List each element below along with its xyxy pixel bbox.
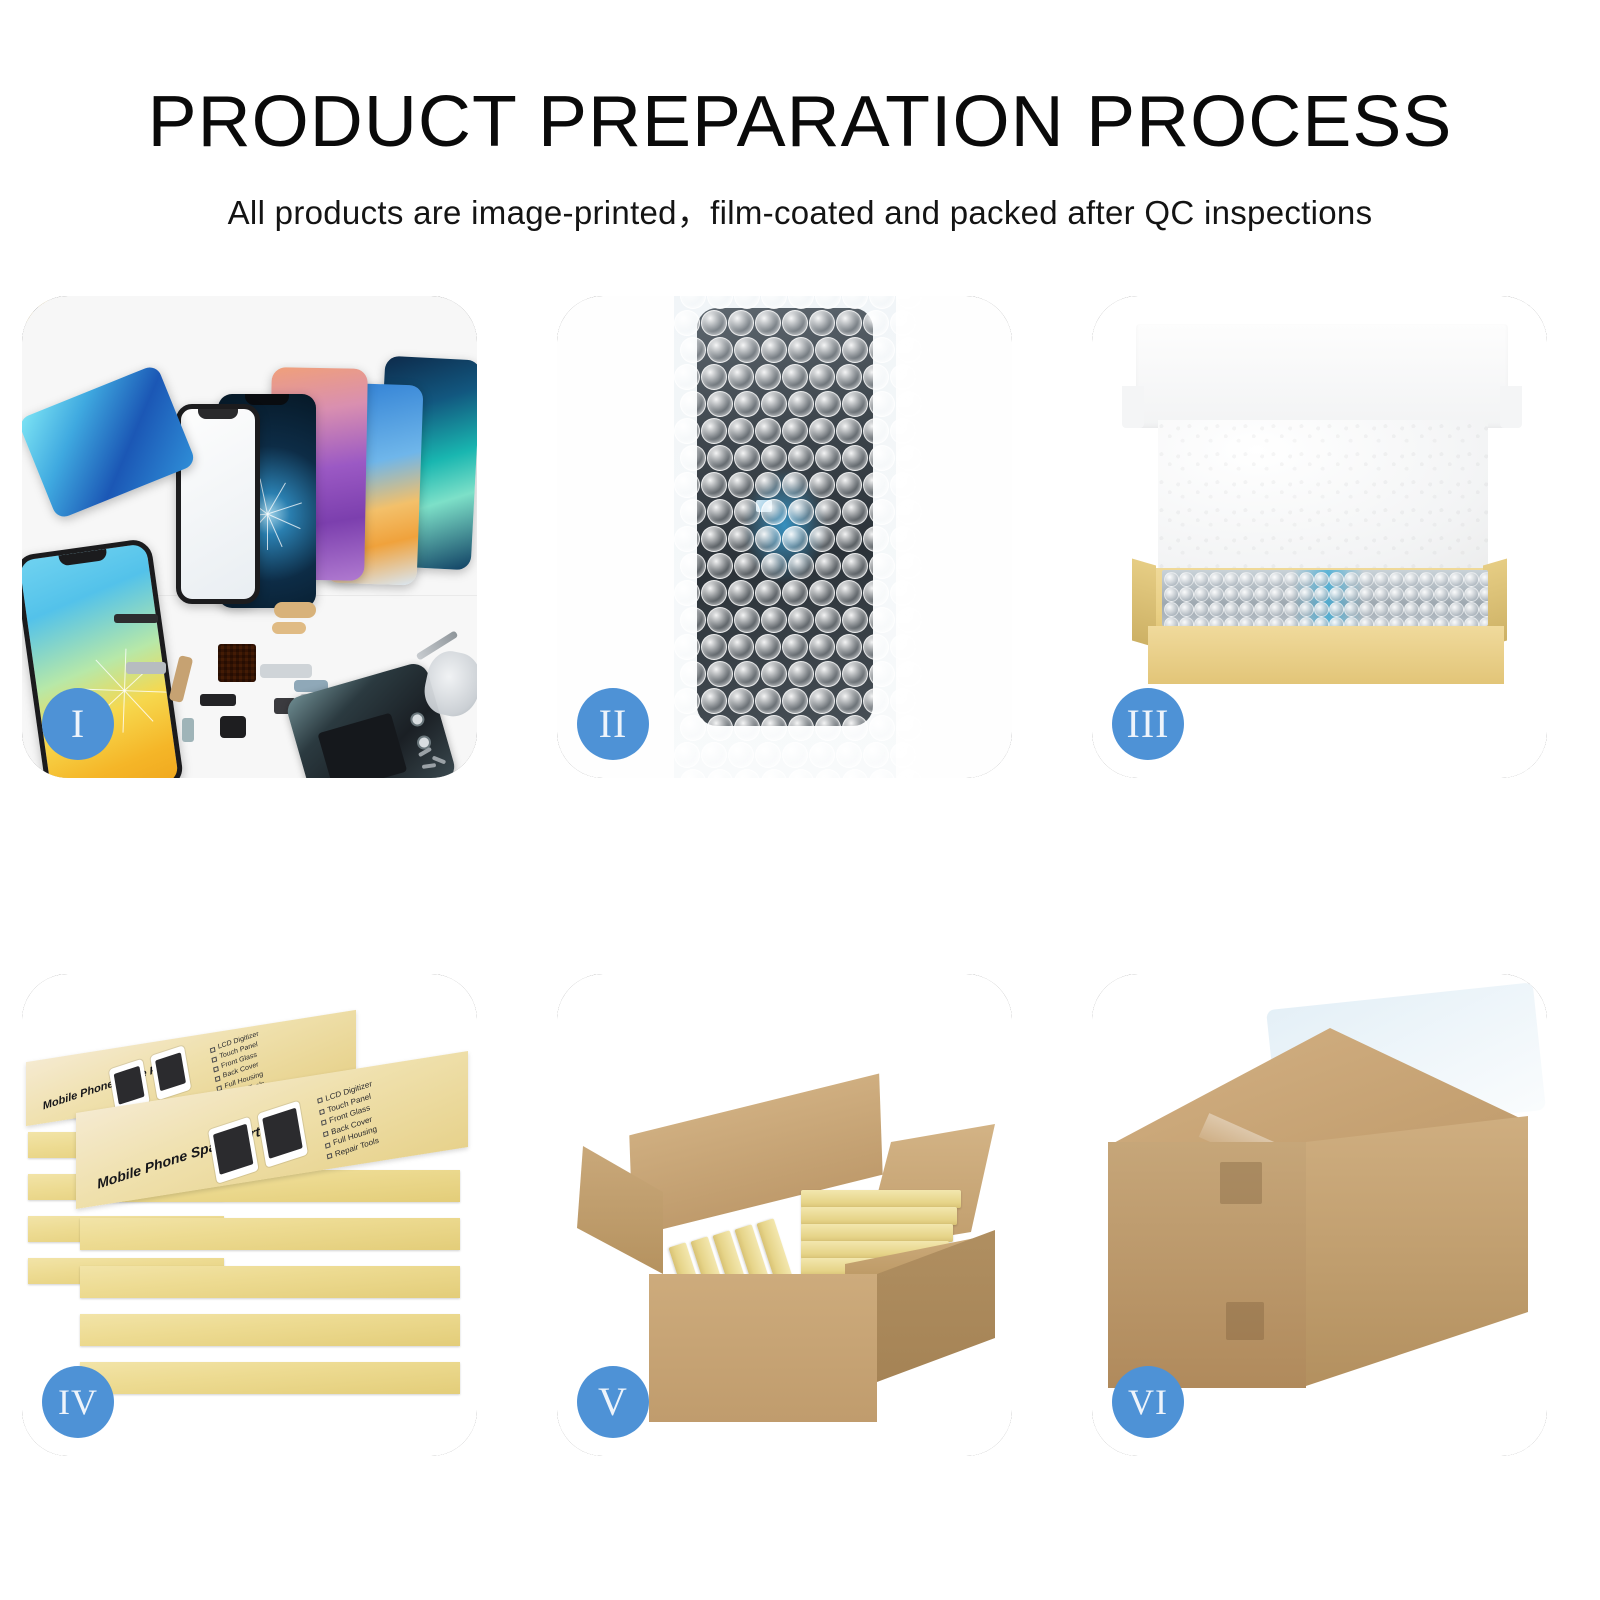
bubble: [701, 688, 727, 714]
front-glass-panel: [176, 404, 260, 604]
bubble: [1299, 587, 1314, 602]
bubble: [674, 580, 700, 606]
step-badge-5: V: [577, 1366, 649, 1438]
bubble: [809, 472, 835, 498]
bubble: [890, 310, 916, 336]
bubble: [1314, 602, 1329, 617]
bubble: [809, 364, 835, 390]
bubble: [1284, 617, 1299, 626]
screwdriver-bits-part: [418, 748, 458, 770]
bubble: [707, 769, 733, 778]
infographic-page: PRODUCT PREPARATION PROCESS All products…: [0, 0, 1600, 1600]
gold-box-front-2: [80, 1218, 460, 1250]
bubble: [815, 391, 841, 417]
step-badge-1: I: [42, 688, 114, 760]
bubble: [734, 445, 760, 471]
bubble: [734, 391, 760, 417]
flex-cable-part-3: [260, 664, 312, 678]
step-badge-4: IV: [42, 1366, 114, 1438]
bubble: [1164, 572, 1179, 587]
bubble: [890, 472, 916, 498]
bubble: [863, 580, 889, 606]
bubble: [1239, 572, 1254, 587]
bubble: [788, 715, 814, 741]
bubble: [1344, 617, 1359, 626]
process-steps-grid: I II: [22, 296, 1578, 1431]
sealed-carton-left-face: [1108, 1142, 1306, 1388]
bubble: [674, 742, 700, 768]
bubble: [809, 310, 835, 336]
step-panel-4: Mobile Phone Spare Parts LCD Digitizer T…: [22, 974, 477, 1456]
bubble: [836, 742, 862, 768]
bubble: [836, 364, 862, 390]
bubble: [1224, 617, 1239, 626]
page-title: PRODUCT PREPARATION PROCESS: [0, 86, 1600, 158]
bubble: [707, 296, 733, 309]
bubble: [1284, 602, 1299, 617]
bubble: [728, 526, 754, 552]
bubble: [842, 553, 868, 579]
bubble: [674, 688, 700, 714]
step-badge-2: II: [577, 688, 649, 760]
bubble: [1239, 602, 1254, 617]
bubble: [788, 769, 814, 778]
page-subtitle: All products are image-printed，film-coat…: [0, 186, 1600, 234]
bubble: [809, 742, 835, 768]
bubble: [1449, 617, 1464, 626]
bubble: [869, 769, 895, 778]
bubble: [1374, 572, 1389, 587]
bubble: [890, 526, 916, 552]
step-badge-6: VI: [1112, 1366, 1184, 1438]
bubble: [1359, 587, 1374, 602]
bubble: [707, 391, 733, 417]
bubble: [1314, 587, 1329, 602]
bubble: [1209, 617, 1224, 626]
bubble: [890, 742, 916, 768]
bubble: [1344, 572, 1359, 587]
bubble: [1224, 587, 1239, 602]
bubble: [728, 742, 754, 768]
bubble: [1164, 587, 1179, 602]
bubble: [1209, 587, 1224, 602]
bubble: [1449, 587, 1464, 602]
bubble: [707, 607, 733, 633]
speaker-grille-part: [114, 614, 158, 623]
bubble: [761, 715, 787, 741]
bubble: [674, 418, 700, 444]
bubble: [761, 391, 787, 417]
bubble: [890, 364, 916, 390]
bubble: [869, 607, 895, 633]
bubble: [1404, 572, 1419, 587]
bubble: [707, 337, 733, 363]
bubble: [680, 499, 706, 525]
bubble: [680, 607, 706, 633]
bubble: [1269, 602, 1284, 617]
bubble: [890, 634, 916, 660]
bubble: [1239, 587, 1254, 602]
bubble: [869, 337, 895, 363]
bubble: [1404, 617, 1419, 626]
camera-module-part: [220, 716, 246, 738]
bubble: [842, 769, 868, 778]
bubble: [701, 634, 727, 660]
bubble: [674, 364, 700, 390]
bubble: [680, 445, 706, 471]
bubble: [761, 661, 787, 687]
gold-box-front-3: [80, 1266, 460, 1298]
bubble: [815, 337, 841, 363]
bubble: [1359, 617, 1374, 626]
bubble: [788, 499, 814, 525]
bubble: [896, 391, 922, 417]
bubble: [755, 580, 781, 606]
bubble: [815, 607, 841, 633]
bubble: [728, 310, 754, 336]
bubble: [815, 553, 841, 579]
bubble: [782, 310, 808, 336]
bubble: [680, 769, 706, 778]
bubble: [863, 688, 889, 714]
bubble: [1179, 572, 1194, 587]
bubble: [1419, 617, 1434, 626]
bubble: [755, 742, 781, 768]
bubble: [1329, 587, 1344, 602]
bubble: [782, 418, 808, 444]
bubble: [1464, 617, 1479, 626]
bubble: [1359, 602, 1374, 617]
bubble: [863, 742, 889, 768]
bubble: [1479, 587, 1488, 602]
bubble: [869, 661, 895, 687]
bubble: [701, 742, 727, 768]
bubble: [788, 661, 814, 687]
bubble: [782, 634, 808, 660]
bubble: [782, 580, 808, 606]
bubble: [842, 391, 868, 417]
bubble: [674, 526, 700, 552]
bubble: [1329, 572, 1344, 587]
bubble: [836, 580, 862, 606]
bubble: [701, 418, 727, 444]
bubble: [788, 391, 814, 417]
bubble: [1479, 602, 1488, 617]
bubble: [788, 607, 814, 633]
bubble: [1389, 602, 1404, 617]
step-panel-2: II: [557, 296, 1012, 778]
bubble: [869, 445, 895, 471]
bubble: [809, 688, 835, 714]
bubble: [1419, 602, 1434, 617]
bubble: [1464, 587, 1479, 602]
bubble: [1449, 602, 1464, 617]
bubble: [701, 526, 727, 552]
bubble: [890, 580, 916, 606]
bubble: [734, 337, 760, 363]
bubble: [869, 296, 895, 309]
step-panel-6: VI: [1092, 974, 1547, 1456]
bubble: [1434, 587, 1449, 602]
bubble: [1194, 602, 1209, 617]
bubble: [707, 715, 733, 741]
bubble: [1284, 587, 1299, 602]
bubble: [734, 607, 760, 633]
bubble: [728, 418, 754, 444]
bubble: [1179, 587, 1194, 602]
bubble: [1179, 602, 1194, 617]
step-panel-1: I: [22, 296, 477, 778]
bubble: [734, 296, 760, 309]
bubble: [1374, 617, 1389, 626]
ic-chip-part: [218, 644, 256, 682]
bubble: [815, 769, 841, 778]
bubble: [1194, 587, 1209, 602]
bubble: [755, 472, 781, 498]
bubble: [896, 553, 922, 579]
bubble: [1209, 572, 1224, 587]
bubble: [836, 526, 862, 552]
bubble: [1224, 602, 1239, 617]
bubble: [1389, 572, 1404, 587]
bubble: [815, 715, 841, 741]
bubble: [1164, 602, 1179, 617]
bubble: [863, 310, 889, 336]
bubble: [842, 661, 868, 687]
bubble: [869, 553, 895, 579]
bubble: [1404, 602, 1419, 617]
bubble: [728, 472, 754, 498]
tape-patch-lower: [1226, 1302, 1264, 1340]
bubble: [701, 364, 727, 390]
bubble: [680, 661, 706, 687]
box-product-photos-front: [208, 1101, 308, 1184]
bubble: [815, 445, 841, 471]
bubble: [761, 337, 787, 363]
bubble: [680, 337, 706, 363]
bubble: [836, 310, 862, 336]
bubble: [1464, 572, 1479, 587]
bubble: [734, 769, 760, 778]
bubble: [761, 769, 787, 778]
bubble: [1194, 572, 1209, 587]
mailer-box-lid: [1136, 324, 1508, 428]
mailer-box-front: [1148, 626, 1504, 684]
bubble: [809, 526, 835, 552]
bubble: [761, 553, 787, 579]
step-badge-3: III: [1112, 688, 1184, 760]
bubble: [1374, 587, 1389, 602]
bubble: [782, 364, 808, 390]
bubble: [755, 688, 781, 714]
bubble: [755, 526, 781, 552]
bubble: [890, 688, 916, 714]
bubble: [1239, 617, 1254, 626]
bubble: [1284, 572, 1299, 587]
bubble: [782, 688, 808, 714]
bubble: [1419, 587, 1434, 602]
bubble: [674, 310, 700, 336]
bubble: [680, 715, 706, 741]
bubble: [1179, 617, 1194, 626]
bubble: [1314, 572, 1329, 587]
bubble: [815, 661, 841, 687]
bubble: [755, 634, 781, 660]
gold-box-front-4: [80, 1314, 460, 1346]
bubble: [1269, 617, 1284, 626]
bubble: [782, 526, 808, 552]
bubble: [728, 688, 754, 714]
bubble: [809, 634, 835, 660]
bubble: [788, 296, 814, 309]
bubble: [1299, 602, 1314, 617]
bubble: [815, 296, 841, 309]
bubble: [788, 337, 814, 363]
bubble: [1254, 587, 1269, 602]
bubble: [896, 715, 922, 741]
bubble: [1374, 602, 1389, 617]
flex-cable-part-2: [272, 622, 306, 634]
carton-front-face: [649, 1274, 877, 1422]
bubble: [863, 634, 889, 660]
bubble: [809, 418, 835, 444]
bubble: [755, 364, 781, 390]
bubble: [701, 310, 727, 336]
bubble: [842, 607, 868, 633]
bubble: [1449, 572, 1464, 587]
bubble: [680, 296, 706, 309]
bubble: [842, 445, 868, 471]
bubble: [815, 499, 841, 525]
bubble: [836, 472, 862, 498]
bubble: [755, 418, 781, 444]
bubble: [761, 296, 787, 309]
bubble: [869, 715, 895, 741]
bubble-wrap-sleeve: [674, 296, 896, 778]
header: PRODUCT PREPARATION PROCESS All products…: [0, 0, 1600, 234]
gold-box-in-carton: [801, 1207, 957, 1225]
bubble: [896, 607, 922, 633]
bubble: [728, 364, 754, 390]
bubble: [1299, 617, 1314, 626]
bubble: [1164, 617, 1179, 626]
bubble: [1344, 602, 1359, 617]
bubble: [782, 472, 808, 498]
bubble: [869, 499, 895, 525]
bubble: [728, 634, 754, 660]
bubble: [734, 499, 760, 525]
bubble: [755, 310, 781, 336]
bubble: [1224, 572, 1239, 587]
bubble: [869, 391, 895, 417]
bubble: [1269, 587, 1284, 602]
bubble: [1344, 587, 1359, 602]
bubble: [836, 688, 862, 714]
bubble: [1389, 617, 1404, 626]
bubble: [734, 715, 760, 741]
bubble: [674, 634, 700, 660]
bubble: [842, 499, 868, 525]
bubble: [836, 634, 862, 660]
bubble: [1269, 572, 1284, 587]
bubble: [842, 337, 868, 363]
bubble: [896, 445, 922, 471]
bubble: [842, 715, 868, 741]
packed-product-in-box: [1162, 570, 1488, 626]
bubble: [1419, 572, 1434, 587]
bubble-pattern: [674, 296, 896, 778]
bubble: [863, 418, 889, 444]
bubble: [842, 296, 868, 309]
bubble: [1329, 617, 1344, 626]
bubble: [1254, 602, 1269, 617]
bubble: [707, 445, 733, 471]
tape-patch-upper: [1220, 1162, 1262, 1204]
gold-box-in-carton: [801, 1190, 961, 1208]
step-panel-3: III: [1092, 296, 1547, 778]
bubble: [680, 553, 706, 579]
bubble: [1254, 617, 1269, 626]
bubble: [1194, 617, 1209, 626]
bubble: [809, 580, 835, 606]
bubble: [1404, 587, 1419, 602]
bubble: [1254, 572, 1269, 587]
bubble: [707, 661, 733, 687]
bubble: [728, 580, 754, 606]
bubble: [1434, 617, 1449, 626]
bubble: [863, 526, 889, 552]
bubble: [1479, 617, 1488, 626]
button-set-part: [126, 662, 166, 674]
bubble: [1434, 602, 1449, 617]
bubble: [1434, 572, 1449, 587]
bubble: [761, 499, 787, 525]
flex-cable-part-1: [274, 602, 316, 618]
bubble: [734, 661, 760, 687]
bubble: [896, 661, 922, 687]
bubble: [701, 472, 727, 498]
bubble: [761, 445, 787, 471]
bubble: [674, 472, 700, 498]
bubble: [1359, 572, 1374, 587]
bubble: [863, 364, 889, 390]
bubble: [701, 580, 727, 606]
bubble: [680, 391, 706, 417]
bubble: [782, 742, 808, 768]
bubble: [734, 553, 760, 579]
step-panel-5: V: [557, 974, 1012, 1456]
bubble: [836, 418, 862, 444]
bubble: [1479, 572, 1488, 587]
bubble: [788, 445, 814, 471]
bubble: [1314, 617, 1329, 626]
bubble: [761, 607, 787, 633]
sim-tray-part: [182, 718, 194, 742]
bubble: [1209, 602, 1224, 617]
bubble: [863, 472, 889, 498]
bubble: [896, 499, 922, 525]
bubble: [788, 553, 814, 579]
bubble: [707, 553, 733, 579]
gold-box-in-carton: [801, 1224, 953, 1242]
component-chip-1: [200, 694, 236, 706]
bubble: [1299, 572, 1314, 587]
bubble: [896, 337, 922, 363]
foam-padding: [1158, 420, 1488, 570]
box-checklist-front: LCD Digitizer Touch Panel Front Glass Ba…: [317, 1078, 383, 1162]
bubble: [707, 499, 733, 525]
bubble: [1389, 587, 1404, 602]
